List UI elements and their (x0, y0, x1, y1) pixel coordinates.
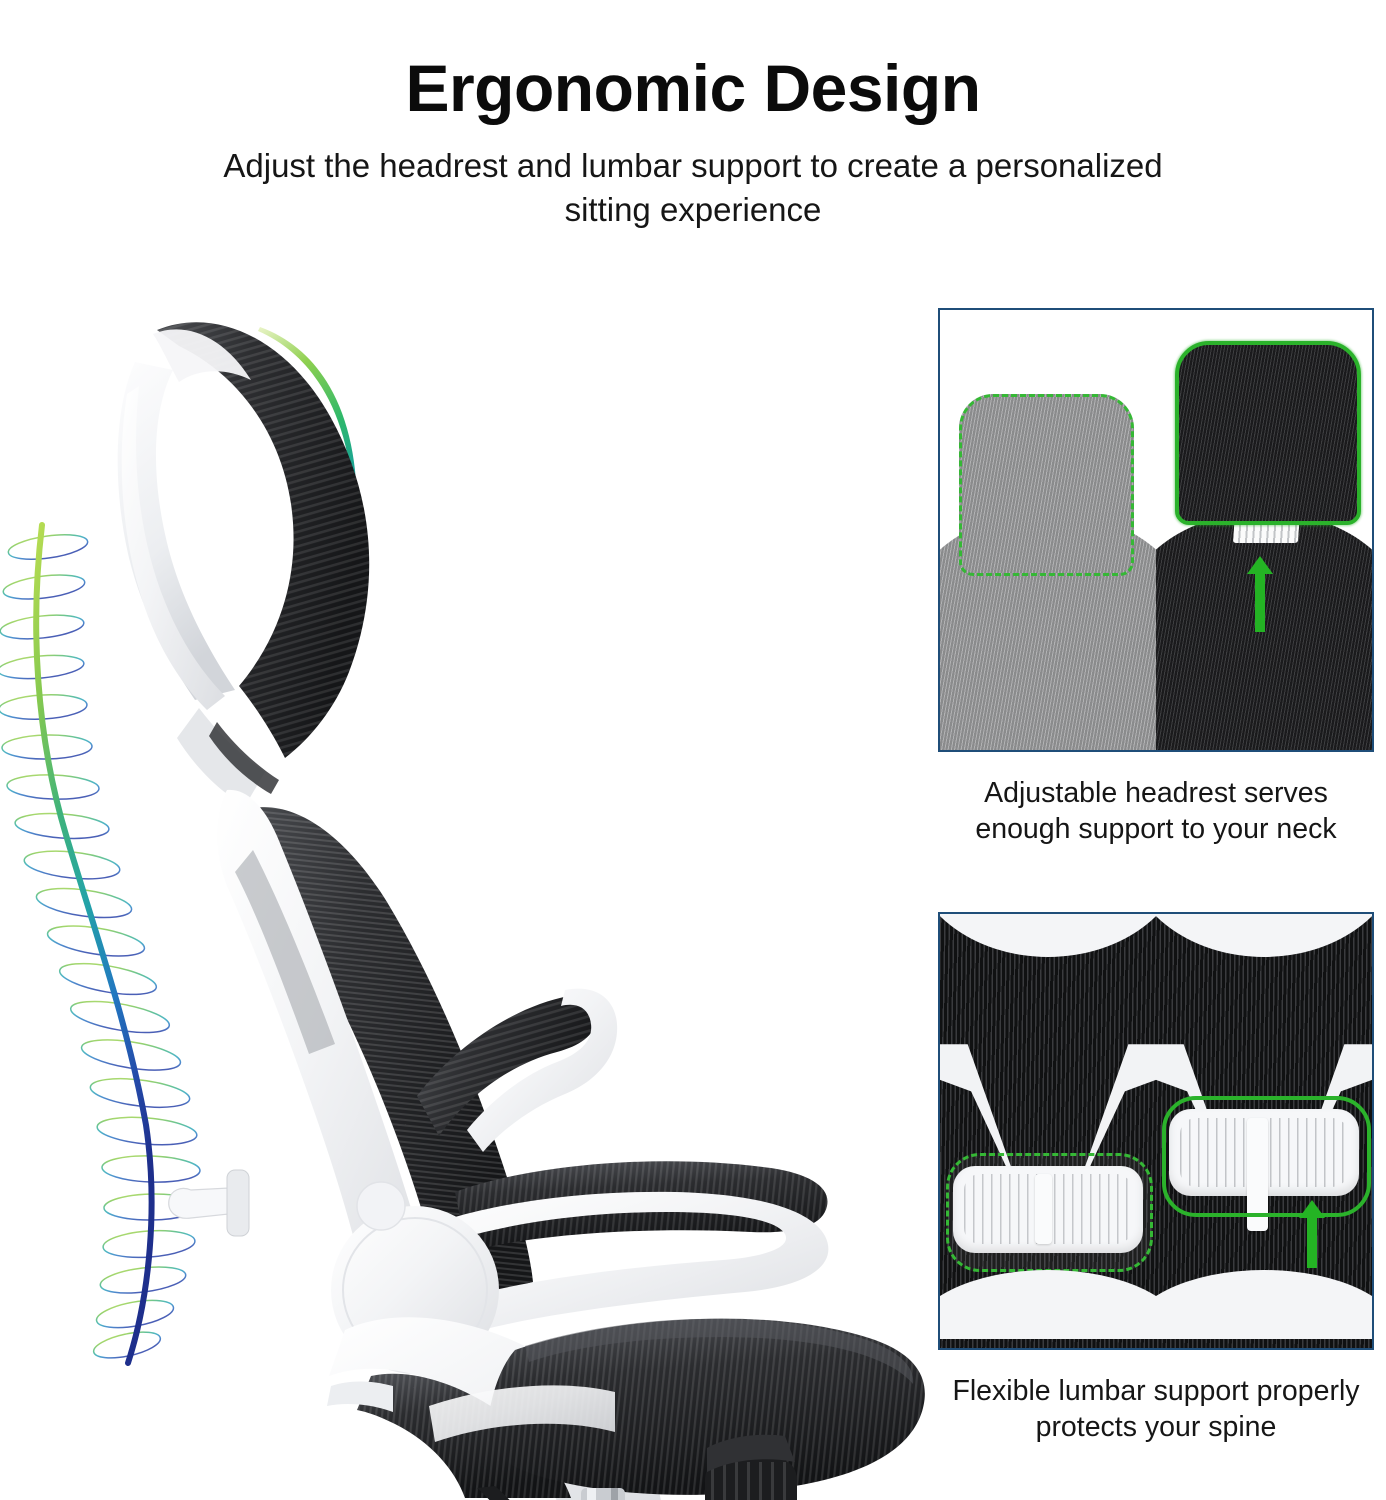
headrest-after-state (1156, 310, 1372, 750)
headrest-detail-panel (938, 308, 1374, 752)
hero-figure (0, 290, 930, 1500)
lumbar-after-top-rail (1156, 914, 1372, 957)
chair-headrest (118, 322, 370, 758)
lumbar-before-bottom-rail (940, 1270, 1156, 1339)
page-title: Ergonomic Design (0, 0, 1386, 124)
lumbar-before-top-rail (940, 914, 1156, 957)
headrest-before-pad-outline (959, 394, 1133, 576)
detail-column: Adjustable headrest serves enough suppor… (938, 308, 1378, 1488)
headrest-before-state (940, 310, 1156, 750)
lumbar-panel-caption: Flexible lumbar support properly protect… (938, 1374, 1374, 1446)
page-subtitle: Adjust the headrest and lumbar support t… (213, 124, 1173, 231)
lumbar-after-state (1156, 914, 1372, 1348)
office-chair-illustration (95, 290, 930, 1500)
lumbar-before-highlight-outline (946, 1153, 1153, 1272)
lumbar-detail-panel (938, 912, 1374, 1350)
lumbar-before-state (940, 914, 1156, 1348)
headrest-after-pad-outline (1175, 341, 1360, 525)
headrest-panel-caption: Adjustable headrest serves enough suppor… (938, 776, 1374, 848)
lumbar-after-bottom-rail (1156, 1270, 1372, 1339)
lumbar-after-highlight-outline (1162, 1096, 1371, 1217)
header: Ergonomic Design Adjust the headrest and… (0, 0, 1386, 231)
